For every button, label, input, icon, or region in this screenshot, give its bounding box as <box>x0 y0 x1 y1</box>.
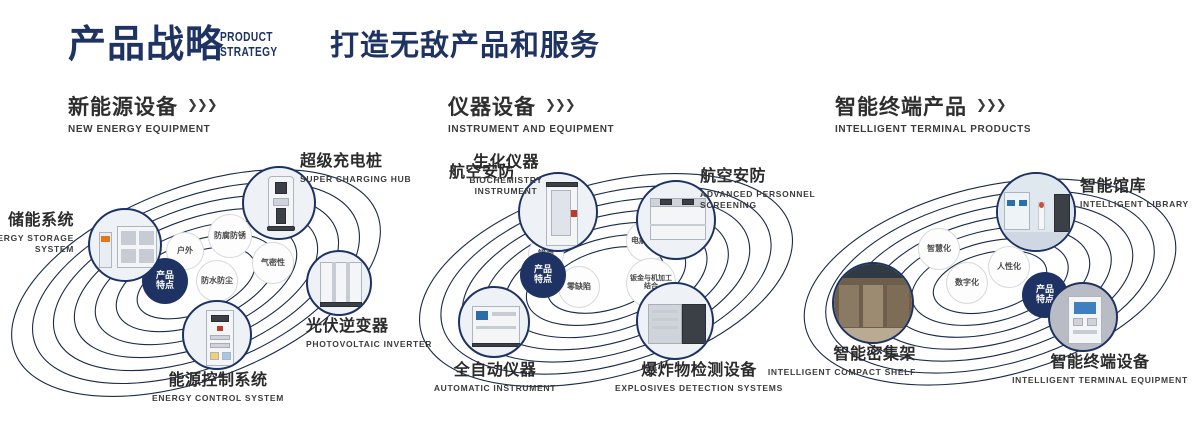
group-heading-cn: 智能终端产品 <box>835 96 967 119</box>
node-photo-pv-inverter[interactable] <box>306 250 372 316</box>
feature-bubble-4: 气密性 <box>252 242 294 284</box>
group-heading-cn: 仪器设备 <box>448 96 536 119</box>
product-strategy-infographic: 产品战略 PRODUCT STRATEGY 打造无敌产品和服务 新能源设备❯❯❯… <box>0 0 1200 422</box>
node-label-en: BIOCHEMISTRY INSTRUMENT <box>446 175 566 196</box>
node-photo-terminal-equipment[interactable] <box>1048 282 1118 352</box>
center-bubble-line2: 特点 <box>534 275 552 285</box>
header: 产品战略 PRODUCT STRATEGY 打造无敌产品和服务 <box>0 0 1200 86</box>
feature-bubble-2: 数字化 <box>946 262 988 304</box>
group-heading-en: NEW ENERGY EQUIPMENT <box>68 124 217 135</box>
battery-cabinet-photo <box>90 210 160 280</box>
node-label-cn: 储能系统 <box>0 212 74 230</box>
node-label-cn: 智能馆库 <box>1080 178 1200 196</box>
feature-bubble-3: 防水防尘 <box>196 260 238 302</box>
node-photo-energy-storage[interactable] <box>88 208 162 282</box>
group-heading-instrument: 仪器设备❯❯❯ INSTRUMENT AND EQUIPMENT <box>448 96 614 135</box>
page-subtitle: 打造无敌产品和服务 <box>330 32 600 61</box>
node-label-intelligent-library: 智能馆库 INTELLIGENT LIBRARY <box>1080 178 1200 210</box>
explosives-detection-photo <box>638 284 712 358</box>
node-label-cn: 生化仪器 <box>446 154 566 172</box>
node-label-en: INTELLIGENT COMPACT SHELF <box>752 367 916 378</box>
node-label-compact-shelf: 智能密集架 INTELLIGENT COMPACT SHELF <box>752 346 916 378</box>
page-title: 产品战略 <box>68 26 224 64</box>
node-label-en: EXPLOSIVES DETECTION SYSTEMS <box>604 383 794 394</box>
node-label-energy-storage: 储能系统 ENERGY STORAGE SYSTEM <box>0 212 74 255</box>
node-photo-intelligent-library[interactable] <box>996 172 1076 252</box>
page-title-en-line1: PRODUCT <box>220 30 278 45</box>
node-label-cn: 智能密集架 <box>752 346 916 364</box>
compact-shelf-photo <box>834 264 912 342</box>
automatic-instrument-photo <box>460 288 528 356</box>
node-label-en: ENERGY CONTROL SYSTEM <box>106 393 330 404</box>
feature-bubble-1: 智慧化 <box>918 228 960 270</box>
node-photo-energy-control[interactable] <box>182 300 252 370</box>
terminal-kiosk-photo <box>1050 284 1116 350</box>
diagram-group-new-energy: 户外 防腐防锈 防水防尘 气密性 产品 特点 储能系统 ENERGY STORA… <box>0 150 420 415</box>
chevrons-right-icon: ❯❯❯ <box>187 97 217 113</box>
feature-bubble-3: 人性化 <box>988 246 1030 288</box>
diagram-group-intelligent: 智慧化 数字化 人性化 产品 特点 智能馆库 INTELLIGENT LIBRA… <box>790 150 1200 415</box>
group-heading-new-energy: 新能源设备❯❯❯ NEW ENERGY EQUIPMENT <box>68 96 217 135</box>
group-heading-en: INTELLIGENT TERMINAL PRODUCTS <box>835 124 1031 135</box>
node-label-en: INTELLIGENT LIBRARY <box>1080 199 1200 210</box>
chevrons-right-icon: ❯❯❯ <box>545 97 575 113</box>
group-heading-intelligent: 智能终端产品❯❯❯ INTELLIGENT TERMINAL PRODUCTS <box>835 96 1031 135</box>
node-photo-explosives-detection[interactable] <box>636 282 714 360</box>
page-title-en: PRODUCT STRATEGY <box>220 30 278 60</box>
group-heading-en: INSTRUMENT AND EQUIPMENT <box>448 124 614 135</box>
control-cabinet-photo <box>184 302 250 368</box>
node-label-cn: 智能终端设备 <box>1000 354 1200 372</box>
node-photo-compact-shelf[interactable] <box>832 262 914 344</box>
node-label-automatic-instrument: 全自动仪器 AUTOMATIC INSTRUMENT <box>420 362 570 394</box>
node-photo-automatic-instrument[interactable] <box>458 286 530 358</box>
node-label-biochemistry-instrument: 生化仪器 BIOCHEMISTRY INSTRUMENT <box>446 154 566 197</box>
page-title-en-line2: STRATEGY <box>220 45 278 60</box>
chevrons-right-icon: ❯❯❯ <box>976 97 1006 113</box>
group-heading-cn: 新能源设备 <box>68 96 178 119</box>
center-bubble-line2: 特点 <box>156 281 174 291</box>
intelligent-library-photo <box>998 174 1074 250</box>
node-label-cn: 能源控制系统 <box>106 372 330 390</box>
node-label-en: AUTOMATIC INSTRUMENT <box>420 383 570 394</box>
node-label-cn: 全自动仪器 <box>420 362 570 380</box>
node-label-terminal-equipment: 智能终端设备 INTELLIGENT TERMINAL EQUIPMENT <box>1000 354 1200 386</box>
node-label-en: INTELLIGENT TERMINAL EQUIPMENT <box>1000 375 1200 386</box>
pv-inverter-photo <box>308 252 370 314</box>
node-label-en: ENERGY STORAGE SYSTEM <box>0 233 74 254</box>
node-label-energy-control: 能源控制系统 ENERGY CONTROL SYSTEM <box>106 372 330 404</box>
